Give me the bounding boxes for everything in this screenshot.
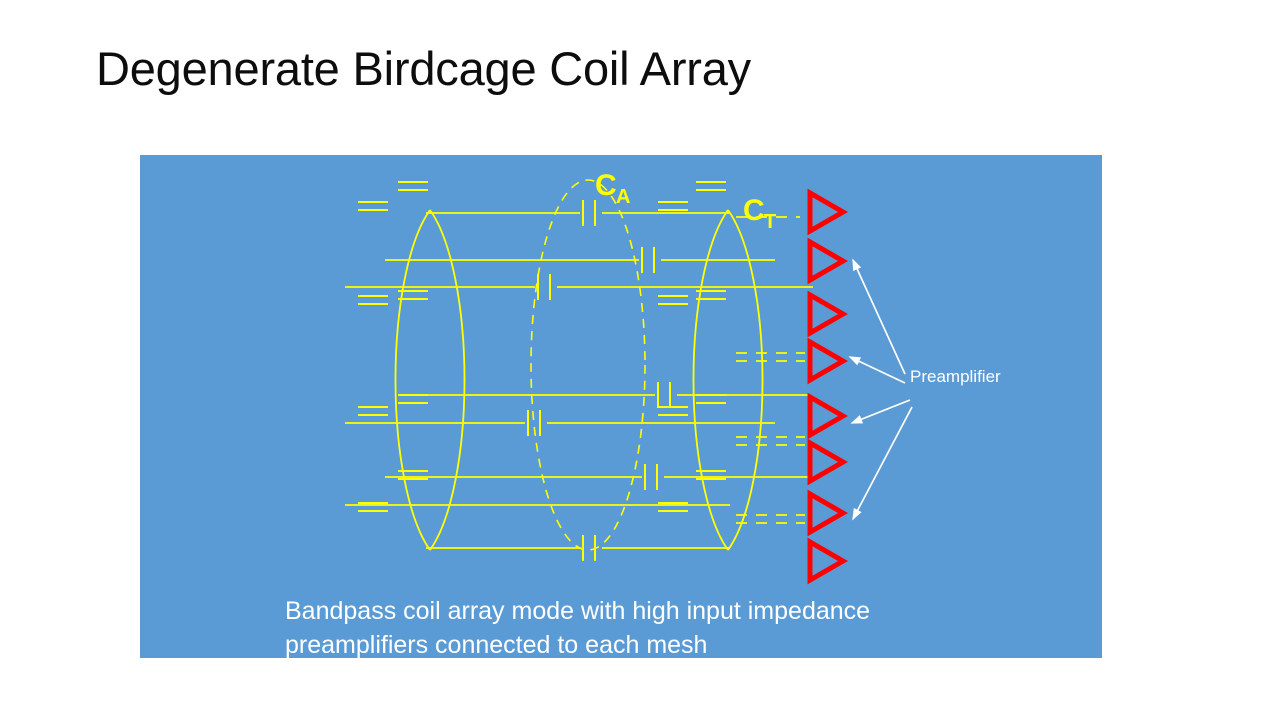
- capacitor-icon-right-front-3: [696, 395, 726, 403]
- capacitor-icon-rung-4: [658, 382, 670, 408]
- capacitor-icon-left-front-group: [398, 182, 428, 479]
- capacitor-icon-right-back-3: [658, 407, 688, 415]
- triangle-amplifier-icon-6: [810, 443, 843, 481]
- capacitor-icon-left-front-1: [398, 182, 428, 190]
- capacitor-label-ca: C: [595, 169, 617, 202]
- preamplifier-array[interactable]: [810, 193, 843, 580]
- preamplifier-label: Preamplifier: [910, 367, 1001, 387]
- capacitor-icon-rung-1: [583, 200, 595, 226]
- ellipse-end-ring-icon-right: [693, 210, 762, 550]
- capacitor-icon-rung-2: [642, 247, 654, 273]
- arrow-pointer-icon-4: [853, 407, 912, 519]
- figure-caption-line-2: preamplifiers connected to each mesh: [285, 629, 1045, 659]
- capacitor-icon-right-back-2: [658, 296, 688, 304]
- capacitor-icon-rung-5: [528, 410, 540, 436]
- figure-panel: C A C T: [140, 155, 1102, 658]
- ellipse-end-ring-icon-left: [395, 210, 464, 550]
- triangle-amplifier-icon-7: [810, 494, 843, 532]
- capacitor-icon-left-front-3: [398, 395, 428, 403]
- capacitor-icon-right-front-group: [696, 182, 726, 479]
- capacitor-icon-left-back-group: [358, 202, 388, 511]
- arrow-pointer-icon-1: [853, 260, 905, 374]
- arrow-pointer-icon-3: [852, 400, 910, 423]
- capacitor-icon-right-front-1: [696, 182, 726, 190]
- capacitor-icon-rung-6: [645, 464, 657, 490]
- arrow-pointer-icon-2: [850, 357, 905, 383]
- capacitor-icon-left-back-2: [358, 296, 388, 304]
- figure-caption: Bandpass coil array mode with high input…: [285, 595, 1045, 658]
- capacitor-label-ca-subscript: A: [616, 186, 630, 208]
- capacitor-icon-left-back-1: [358, 202, 388, 210]
- capacitor-icon-rung-group: [528, 200, 670, 561]
- capacitor-icon-left-back-3: [358, 407, 388, 415]
- triangle-amplifier-icon-4: [810, 342, 843, 380]
- triangle-amplifier-icon-5: [810, 397, 843, 435]
- capacitor-icon-right-back-1: [658, 202, 688, 210]
- triangle-amplifier-icon-2: [810, 242, 843, 280]
- capacitor-label-ct-subscript: T: [764, 211, 776, 233]
- capacitor-icon-rung-8: [583, 535, 595, 561]
- triangle-amplifier-icon-1: [810, 193, 843, 231]
- page-title: Degenerate Birdcage Coil Array: [96, 42, 751, 96]
- coil-rungs: [345, 213, 813, 548]
- capacitor-icon-rung-3: [538, 274, 550, 300]
- arrow-pointer-icon-group: [850, 260, 912, 519]
- ellipse-end-ring-icon-middle: [531, 180, 645, 550]
- triangle-amplifier-icon-3: [810, 295, 843, 333]
- birdcage-coil-diagram: C A C T: [140, 155, 1102, 658]
- figure-caption-line-1: Bandpass coil array mode with high input…: [285, 595, 1045, 629]
- capacitor-label-ct: C: [743, 194, 765, 227]
- slide-canvas: Degenerate Birdcage Coil Array: [0, 0, 1280, 720]
- capacitor-icon-right-back-group: [658, 202, 688, 511]
- triangle-amplifier-icon-8: [810, 542, 843, 580]
